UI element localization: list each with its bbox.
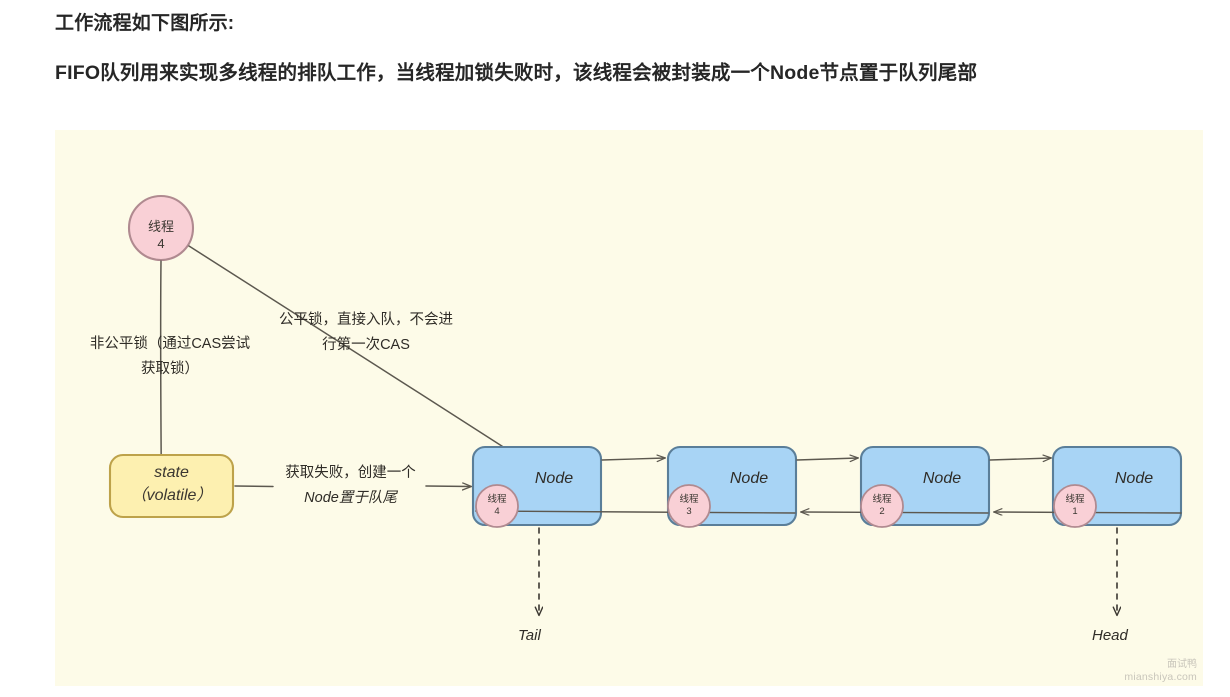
watermark: 面试鸭 mianshiya.com	[1124, 658, 1197, 684]
link-2-3-forward	[797, 458, 858, 460]
diagram-canvas: 线程 4 非公平锁（通过CAS尝试 获取锁） 公平锁，直接入队，不会进 行第一次…	[55, 130, 1203, 686]
edge-label-enqueue-line2: Node置于队尾	[268, 486, 433, 511]
thread-4-circle-shape	[129, 196, 193, 260]
node-4-thread-circle-shape	[1054, 485, 1096, 527]
edge-label-enqueue-line1: 获取失败，创建一个	[268, 461, 433, 486]
page-subtitle: FIFO队列用来实现多线程的排队工作，当线程加锁失败时，该线程会被封装成一个No…	[55, 56, 977, 85]
head-label: Head	[1092, 627, 1128, 644]
node-1-thread-circle-shape	[476, 485, 518, 527]
node-2-thread-circle-shape	[668, 485, 710, 527]
diagram-svg	[55, 130, 1203, 686]
edge-label-unfair-lock-line2: 获取锁）	[55, 357, 290, 382]
edge-label-fair-lock: 公平锁，直接入队，不会进 行第一次CAS	[251, 308, 481, 358]
edge-label-fair-lock-line2: 行第一次CAS	[251, 333, 481, 358]
edge-label-enqueue: 获取失败，创建一个 Node置于队尾	[268, 461, 433, 511]
state-box-shape	[110, 455, 233, 517]
edge-label-fair-lock-line1: 公平锁，直接入队，不会进	[251, 308, 481, 333]
watermark-cn: 面试鸭	[1124, 658, 1197, 671]
page-title: 工作流程如下图所示:	[55, 8, 234, 35]
tail-label: Tail	[518, 627, 541, 644]
node-3-thread-circle-shape	[861, 485, 903, 527]
watermark-url: mianshiya.com	[1124, 671, 1197, 684]
link-1-2-forward	[602, 458, 665, 460]
link-3-4-forward	[990, 458, 1051, 460]
